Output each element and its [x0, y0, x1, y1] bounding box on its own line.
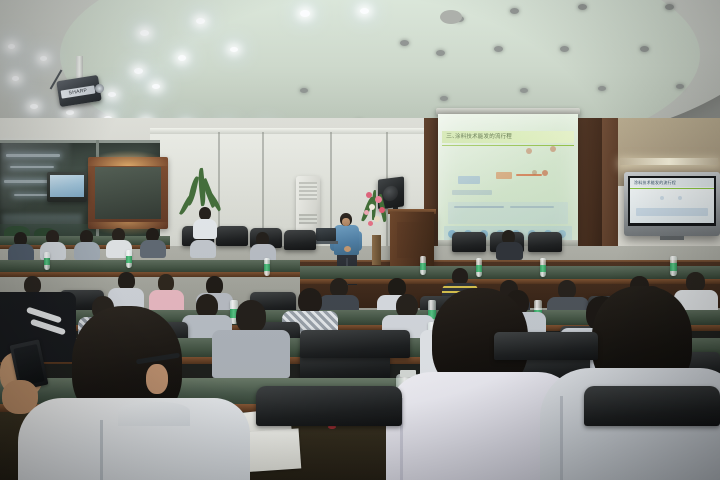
ceiling-downlight [40, 56, 47, 61]
ceiling-downlight-off [436, 50, 445, 56]
flower-bloom [364, 210, 369, 215]
ceiling-downlight-off [520, 88, 528, 93]
flower-bloom [379, 207, 385, 213]
chair-back-foreground [494, 332, 598, 360]
audience-torso [212, 330, 290, 378]
water-bottle-label [44, 258, 50, 265]
flower-stand [372, 235, 381, 265]
ceiling-downlight [108, 92, 116, 97]
shirt-collar [118, 402, 190, 426]
screen-glare [438, 114, 578, 246]
shirt-seam [100, 420, 103, 480]
ceiling-speaker-grille [440, 10, 462, 24]
ceiling-downlight-off [510, 8, 519, 14]
ceiling-downlight [230, 47, 238, 52]
ceiling-downlight-off [440, 96, 448, 101]
audience-torso [74, 242, 100, 260]
wall-light-strip [620, 158, 718, 165]
ceiling-downlight-off [560, 46, 569, 52]
podium-front-panel [397, 222, 427, 258]
ceiling-downlight [360, 8, 369, 14]
ceiling-downlight [152, 84, 160, 89]
wall-uplight-glow [86, 150, 170, 166]
ceiling-downlight [196, 18, 205, 24]
laptop-screen [316, 228, 336, 241]
laptop-base [314, 241, 338, 244]
wall-panel-top-trim [150, 128, 450, 134]
audience-torso [190, 240, 216, 258]
audience-head [686, 272, 705, 292]
chair-back-foreground [300, 330, 410, 358]
wall-tv-diagram-node [678, 196, 682, 200]
presenter-hand [344, 246, 351, 252]
flower-bloom [374, 216, 380, 222]
chair-back [452, 232, 486, 252]
water-bottle-label [420, 263, 426, 270]
ceiling-downlight [300, 10, 310, 17]
decorative-wall-panel [95, 167, 161, 219]
audience-torso [140, 240, 166, 258]
flower-bloom [366, 192, 372, 198]
flower-bloom [369, 204, 375, 210]
chair-back [284, 230, 316, 250]
chair-back-foreground [584, 386, 720, 426]
wall-tv-slide-rule [630, 188, 714, 189]
wall-tv-diagram-box [636, 208, 708, 216]
ceiling-downlight [8, 44, 15, 49]
water-bottle-label [540, 265, 546, 272]
ceiling-downlight [178, 55, 186, 61]
chair-back [216, 226, 248, 246]
audience-ear [146, 364, 168, 394]
conference-hall-photo: SHARP [0, 0, 720, 480]
wall-tv-diagram-node [660, 196, 664, 200]
water-bottle-label [264, 264, 270, 271]
chair-back-foreground [256, 386, 402, 426]
ceiling-downlight-off [676, 84, 684, 89]
ceiling-downlight-off [665, 4, 674, 10]
flower-bloom [375, 196, 382, 203]
desk-edge [0, 272, 300, 277]
ceiling-downlight-off [300, 88, 308, 93]
ceiling-downlight [140, 30, 149, 36]
desk-row-2-right [300, 266, 720, 280]
ceiling-downlight [12, 76, 19, 81]
ceiling-downlight-off [578, 4, 587, 10]
audience-torso [496, 242, 523, 260]
presenter-face [342, 218, 350, 226]
ceiling-downlight-off [400, 40, 409, 46]
side-monitor-screen [50, 175, 84, 197]
ceiling-downlight [30, 104, 38, 109]
chair-back [528, 232, 562, 252]
shirt-sleeve-seam [560, 396, 563, 480]
audience-torso [193, 219, 217, 239]
water-bottle-label [126, 256, 132, 263]
window-frame-top [0, 140, 160, 143]
ceiling-downlight-off [598, 86, 606, 91]
ceiling-downlight-off [640, 46, 649, 52]
air-conditioner-vent [299, 214, 317, 224]
ceiling-downlight-off [494, 46, 503, 52]
water-bottle-label [476, 265, 482, 272]
ceiling-downlight [66, 110, 74, 115]
audience-head [236, 300, 266, 333]
ceiling-downlight [134, 68, 143, 74]
flower-bloom [368, 221, 373, 226]
wall-tv-stand [660, 236, 684, 240]
water-bottle-label [670, 263, 677, 271]
wall-tv-slide-title: 涂料技术能发的流行程 [634, 179, 706, 186]
air-conditioner-grille [299, 182, 317, 200]
